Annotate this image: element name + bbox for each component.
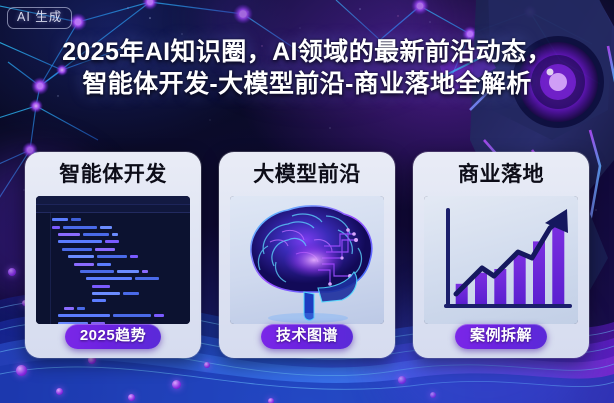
chart-bar [475,273,487,304]
decor-dot [172,380,181,389]
decor-dot [128,394,135,401]
decor-dot [398,376,406,384]
pill-tech-map[interactable]: 技术图谱 [261,324,353,350]
card-header: 智能体开发 [25,152,201,196]
pill-2025-trend[interactable]: 2025趋势 [65,324,161,350]
decor-dot [268,398,274,403]
pill-case-study[interactable]: 案例拆解 [455,324,547,350]
chart-bar [552,225,564,304]
chart-bar [514,253,526,304]
card-large-model-frontier[interactable]: 大模型前沿 [219,152,395,358]
title-line-1: 2025年AI知识圈，AI领域的最新前沿动态， [16,36,598,68]
card-header: 商业落地 [413,152,589,196]
card-header: 大模型前沿 [219,152,395,196]
chart-trend-line [456,218,562,294]
title-line-2: 智能体开发-大模型前沿-商业落地全解析 [16,68,598,100]
poster-title: 2025年AI知识圈，AI领域的最新前沿动态， 智能体开发-大模型前沿-商业落地… [0,36,614,100]
code-editor-screenshot [36,196,190,324]
feature-cards-row: 智能体开发 [0,152,614,358]
chart-bars [456,225,565,304]
decor-dot [16,365,27,376]
card-pill-wrap: 2025趋势 [25,324,201,350]
card-commercial-landing[interactable]: 商业落地 [413,152,589,358]
decor-dot [204,362,210,368]
ai-brain-illustration [230,196,384,324]
card-agent-development[interactable]: 智能体开发 [25,152,201,358]
poster-canvas: AI 生成 2025年AI知识圈，AI领域的最新前沿动态， 智能体开发-大模型前… [0,0,614,403]
growth-chart-illustration [424,196,578,324]
card-title: 商业落地 [458,164,544,185]
ai-generated-badge: AI 生成 [7,7,72,29]
decor-dot [56,388,63,395]
card-pill-wrap: 技术图谱 [219,324,395,350]
card-title: 大模型前沿 [253,164,361,185]
decor-dot [430,392,436,398]
card-pill-wrap: 案例拆解 [413,324,589,350]
card-title: 智能体开发 [59,164,167,185]
